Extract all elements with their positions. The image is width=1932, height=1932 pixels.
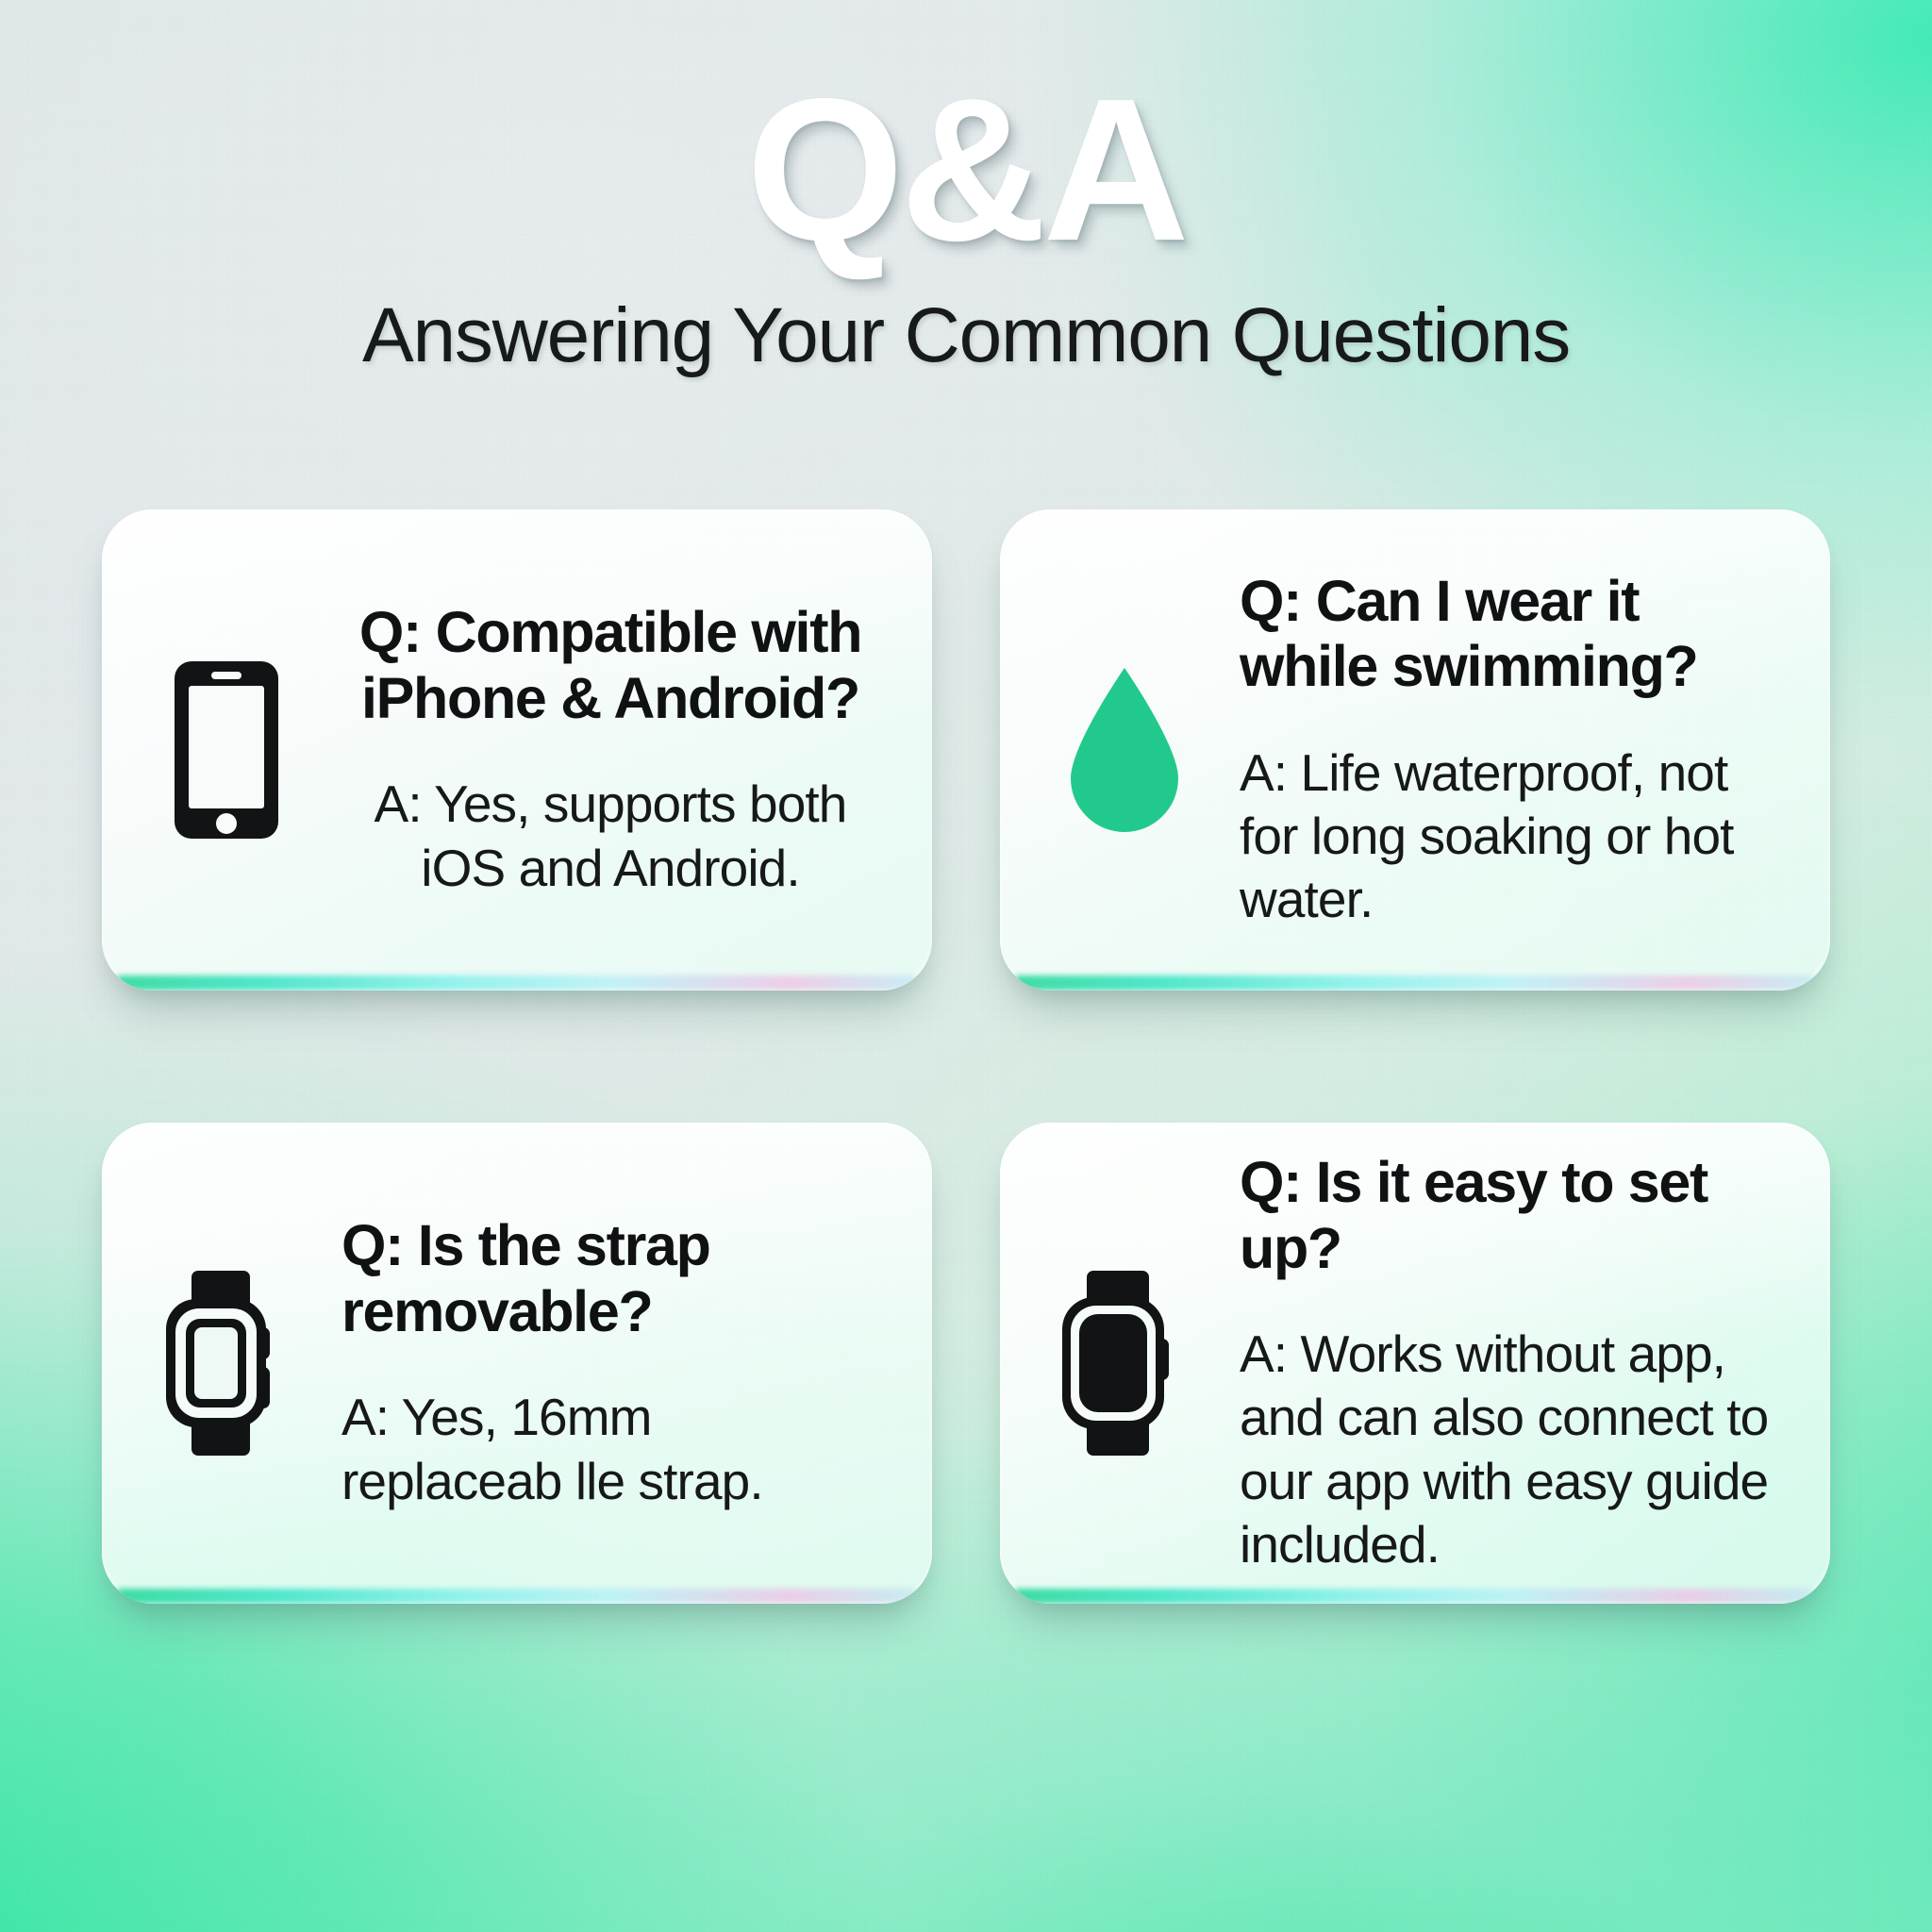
smartwatch-filled-icon [1053, 1269, 1196, 1457]
faq-card-body: Q: Compatible with iPhone & Android? A: … [341, 600, 879, 899]
faq-question: Q: Is it easy to set up? [1240, 1150, 1777, 1281]
faq-card-body: Q: Is the strap removable? A: Yes, 16mm … [341, 1213, 879, 1512]
faq-card[interactable]: Q: Is the strap removable? A: Yes, 16mm … [102, 1123, 932, 1604]
faq-card[interactable]: Q: Compatible with iPhone & Android? A: … [102, 509, 932, 991]
faq-answer: A: Yes, supports both iOS and Android. [341, 773, 879, 899]
smartphone-icon [155, 658, 298, 842]
water-droplet-icon [1053, 662, 1196, 838]
faq-answer: A: Works without app, and can also conne… [1240, 1323, 1777, 1575]
page-subtitle: Answering Your Common Questions [0, 291, 1932, 380]
poster-page: Q&A Answering Your Common Questions Q: C… [0, 0, 1932, 1932]
smartwatch-outline-icon [155, 1269, 298, 1457]
faq-answer: A: Yes, 16mm replaceab lle strap. [341, 1386, 879, 1512]
faq-answer: A: Life waterproof, not for long soaking… [1240, 741, 1777, 931]
faq-card[interactable]: Q: Is it easy to set up? A: Works withou… [1000, 1123, 1830, 1604]
faq-card-body: Q: Can I wear it while swimming? A: Life… [1240, 569, 1777, 931]
faq-card-grid: Q: Compatible with iPhone & Android? A: … [102, 509, 1830, 1604]
faq-question: Q: Compatible with iPhone & Android? [341, 600, 879, 731]
page-title: Q&A [0, 0, 1932, 271]
faq-question: Q: Is the strap removable? [341, 1213, 879, 1344]
faq-card[interactable]: Q: Can I wear it while swimming? A: Life… [1000, 509, 1830, 991]
faq-card-body: Q: Is it easy to set up? A: Works withou… [1240, 1150, 1777, 1575]
header-block: Q&A Answering Your Common Questions [0, 0, 1932, 380]
faq-question: Q: Can I wear it while swimming? [1240, 569, 1777, 700]
